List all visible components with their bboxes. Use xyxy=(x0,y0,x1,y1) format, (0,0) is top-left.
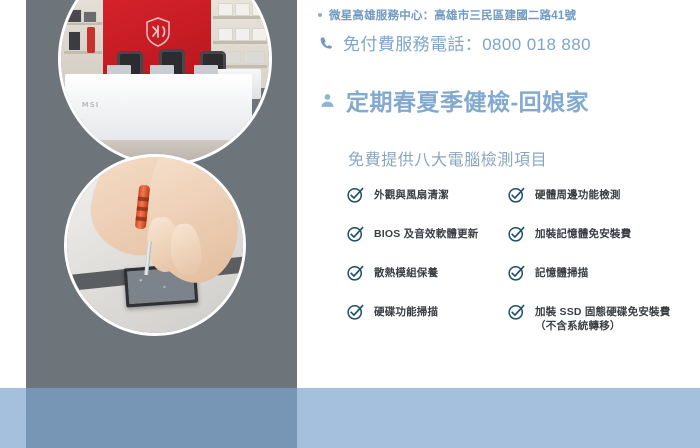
list-item: 記憶體掃描 xyxy=(507,264,692,282)
flyer-page: MSI 微 xyxy=(0,0,700,448)
desk-msi-logo-text: MSI xyxy=(82,101,100,109)
list-item: 硬碟功能掃描 xyxy=(346,303,507,333)
address-text: 微星高雄服務中心：高雄市三民區建國二路41號 xyxy=(329,7,576,23)
list-item-label: 加裝 SSD 固態硬碟免安裝費（不含系統轉移） xyxy=(535,303,675,333)
check-circle-icon xyxy=(346,224,365,243)
bottom-blue-band-overlap xyxy=(26,388,297,448)
page-title: 定期春夏季健檢-回娘家 xyxy=(319,83,589,117)
list-item: 散熱模組保養 xyxy=(346,264,507,282)
list-item: 加裝 SSD 固態硬碟免安裝費（不含系統轉移） xyxy=(507,303,692,333)
check-circle-icon xyxy=(507,263,526,282)
phone-icon xyxy=(318,35,334,51)
list-item: 硬體周邊功能檢測 xyxy=(507,186,692,204)
check-circle-icon xyxy=(507,224,526,243)
laptop-repair-photo xyxy=(64,154,246,336)
list-item: BIOS 及音效軟體更新 xyxy=(346,225,507,243)
address-row: 微星高雄服務中心：高雄市三民區建國二路41號 xyxy=(318,7,576,23)
msi-service-center-photo: MSI xyxy=(58,0,272,166)
check-circle-icon xyxy=(346,263,365,282)
check-circle-icon xyxy=(507,185,526,204)
list-item: 加裝記憶體免安裝費 xyxy=(507,225,692,243)
list-item-label: 加裝記憶體免安裝費 xyxy=(535,225,631,241)
msi-dragon-logo-icon xyxy=(145,17,171,47)
content-column: 微星高雄服務中心：高雄市三民區建國二路41號 免付費服務電話：0800 018 … xyxy=(318,0,700,388)
phone-text: 免付費服務電話：0800 018 880 xyxy=(343,30,591,55)
list-item-label: 散熱模組保養 xyxy=(374,264,438,280)
list-item-label: 記憶體掃描 xyxy=(535,264,589,280)
list-item-label: 外觀與風扇清潔 xyxy=(374,186,449,202)
check-circle-icon xyxy=(507,302,526,321)
subtitle-text: 免費提供八大電腦檢測項目 xyxy=(348,146,547,170)
list-item-label: BIOS 及音效軟體更新 xyxy=(374,225,479,241)
list-item-label: 硬體周邊功能檢測 xyxy=(535,186,621,202)
phone-row[interactable]: 免付費服務電話：0800 018 880 xyxy=(318,30,591,55)
list-item: 外觀與風扇清潔 xyxy=(346,186,507,204)
check-circle-icon xyxy=(346,185,365,204)
person-icon xyxy=(319,92,336,109)
page-title-text: 定期春夏季健檢-回娘家 xyxy=(346,83,589,117)
dot-bullet-icon xyxy=(318,13,322,17)
list-item-label: 硬碟功能掃描 xyxy=(374,303,438,319)
check-circle-icon xyxy=(346,302,365,321)
service-list: 外觀與風扇清潔 硬體周邊功能檢測 BIOS 及音效軟體更新 xyxy=(346,186,692,333)
